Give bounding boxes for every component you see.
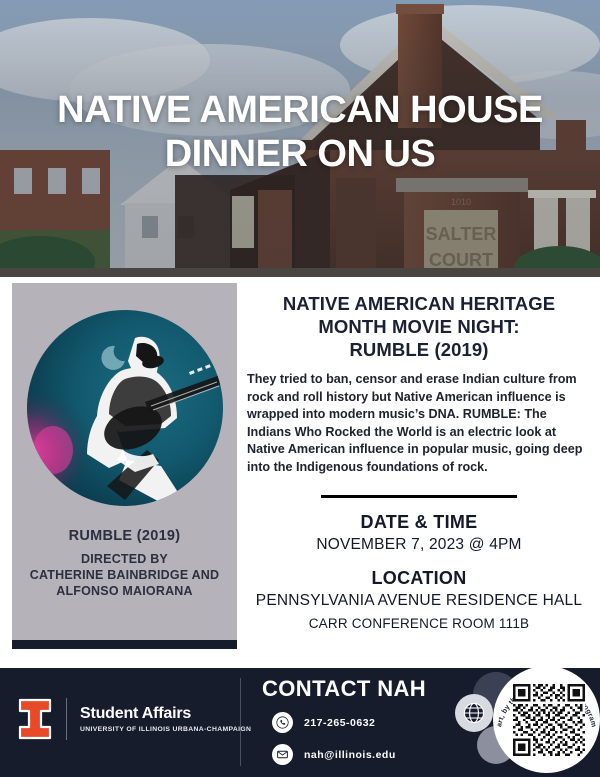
phone-icon <box>272 712 293 733</box>
poster-caption: RUMBLE (2019) DIRECTED BY CATHERINE BAIN… <box>12 528 237 599</box>
logo-title: Student Affairs <box>80 705 251 723</box>
contact-phone-row[interactable]: 217-265-0632 <box>272 712 375 733</box>
section-divider <box>321 495 517 498</box>
illinois-block-i-icon <box>18 698 52 740</box>
datetime-value: NOVEMBER 7, 2023 @ 4PM <box>244 536 594 554</box>
event-heading: NATIVE AMERICAN HERITAGE MONTH MOVIE NIG… <box>244 292 594 361</box>
phone-number[interactable]: 217-265-0632 <box>304 717 375 729</box>
student-affairs-logo: Student Affairs UNIVERSITY OF ILLINOIS U… <box>18 698 251 740</box>
qr-code[interactable] <box>513 684 585 756</box>
logo-subtitle: UNIVERSITY OF ILLINOIS URBANA-CHAMPAIGN <box>80 726 251 733</box>
location-block: LOCATION PENNSYLVANIA AVENUE RESIDENCE H… <box>244 568 594 631</box>
location-value: PENNSYLVANIA AVENUE RESIDENCE HALL <box>244 592 594 610</box>
datetime-heading: DATE & TIME <box>244 512 594 533</box>
envelope-icon <box>272 744 293 765</box>
datetime-block: DATE & TIME NOVEMBER 7, 2023 @ 4PM <box>244 512 594 554</box>
poster-credit-line2: CATHERINE BAINBRIDGE AND <box>12 567 237 583</box>
logo-separator <box>66 698 67 740</box>
flyer-title-line2: DINNER ON US <box>0 132 600 176</box>
hero-photo: SALTER COURT 1010 NATIVE AMERICAN HOUSE … <box>0 0 600 277</box>
event-description: They tried to ban, censor and erase Indi… <box>244 371 594 477</box>
location-heading: LOCATION <box>244 568 594 589</box>
poster-movie-title: RUMBLE (2019) <box>12 528 237 544</box>
location-room: CARR CONFERENCE ROOM 111B <box>244 616 594 631</box>
contact-heading: CONTACT NAH <box>262 676 426 702</box>
movie-poster-image-wrap <box>12 295 237 520</box>
contact-email-row[interactable]: nah@illinois.edu <box>272 744 396 765</box>
event-heading-line2: MONTH MOVIE NIGHT: <box>244 315 594 338</box>
event-flyer: SALTER COURT 1010 NATIVE AMERICAN HOUSE … <box>0 0 600 777</box>
rumble-artwork-circle <box>27 310 223 506</box>
guitarist-illustration <box>27 310 223 506</box>
flyer-title-line1: NATIVE AMERICAN HOUSE <box>57 89 543 131</box>
event-heading-line3: RUMBLE (2019) <box>244 338 594 361</box>
poster-credit-line3: ALFONSO MAIORANA <box>12 583 237 599</box>
panel-accent-strip <box>12 640 237 649</box>
event-details: NATIVE AMERICAN HERITAGE MONTH MOVIE NIG… <box>244 292 594 631</box>
event-heading-line1: NATIVE AMERICAN HERITAGE <box>244 292 594 315</box>
qr-cluster[interactable]: paid, in part, by the Student Cultural P… <box>455 664 600 777</box>
globe-icon <box>455 694 493 732</box>
email-address[interactable]: nah@illinois.edu <box>304 749 396 761</box>
flyer-title: NATIVE AMERICAN HOUSE DINNER ON US <box>0 88 600 176</box>
poster-credit-line1: DIRECTED BY <box>12 551 237 567</box>
